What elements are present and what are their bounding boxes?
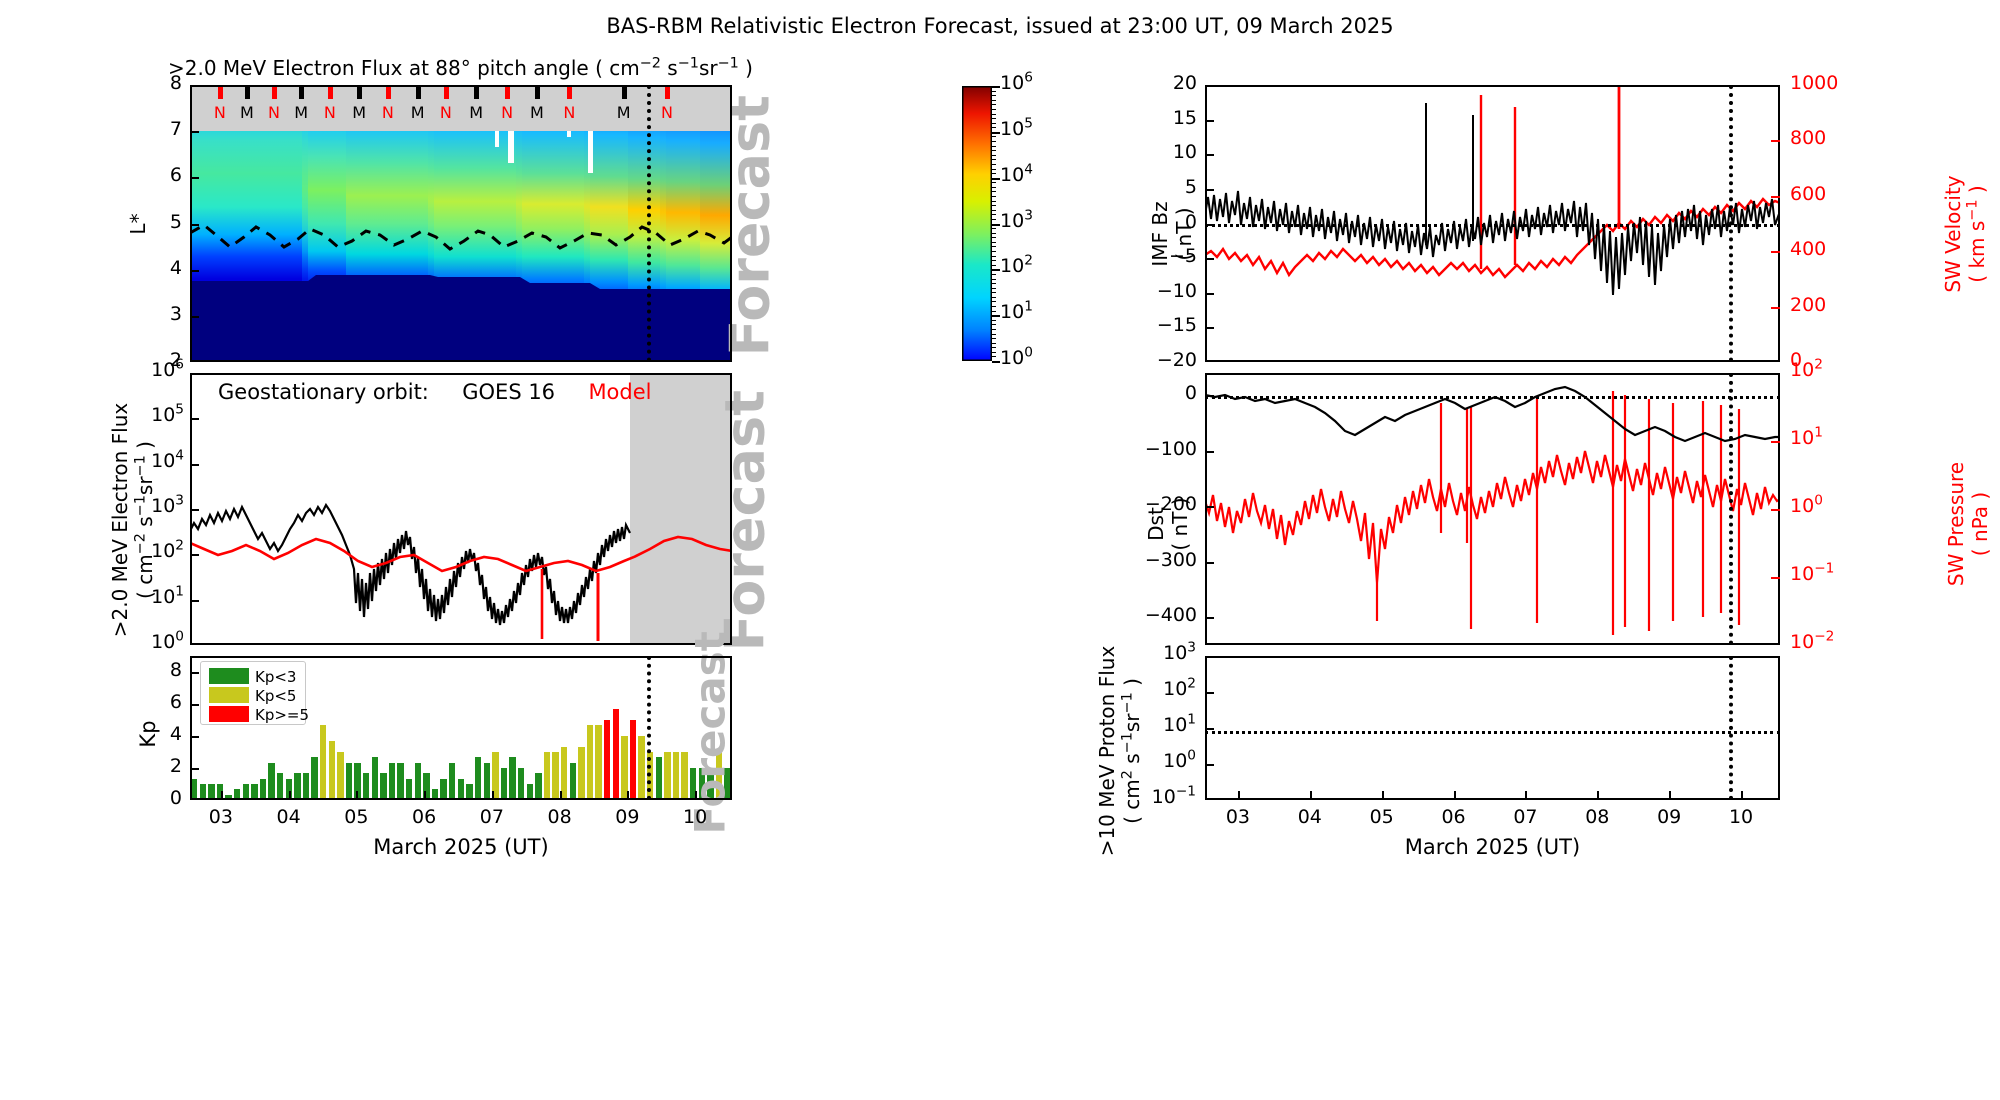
proton-xtick-mark [1525, 791, 1527, 800]
colorbar-minor-tick [992, 155, 996, 156]
proton-xtick: 08 [1580, 806, 1614, 828]
colorbar-minor-tick [992, 214, 996, 215]
colorbar-minor-tick [992, 104, 996, 105]
colorbar-minor-tick [992, 196, 996, 197]
colorbar-minor-tick [992, 141, 996, 142]
kp-ylabel: Kp [136, 704, 160, 764]
kp-ytick: 8 [158, 659, 182, 681]
colorbar-minor-tick [992, 164, 996, 165]
flux-lstar-ytick-mark [190, 224, 199, 226]
flux-lstar-ytick: 6 [160, 164, 182, 186]
colorbar-minor-tick [992, 132, 996, 133]
colorbar-minor-tick [992, 274, 996, 275]
colorbar-minor-tick [992, 86, 996, 87]
sw-pressure-ytick: 102 [1790, 359, 1823, 381]
imf-ytick: 15 [1135, 107, 1197, 129]
proton-xtick-mark [1238, 791, 1240, 800]
flux-lstar-panel-title: >2.0 MeV Electron Flux at 88° pitch angl… [168, 56, 753, 80]
sw-velocity-ytick-mark [1771, 251, 1780, 253]
sw-pressure-ytick-mark [1771, 441, 1780, 443]
colorbar-minor-tick [992, 219, 996, 220]
proton-axes-frame [1205, 656, 1780, 800]
geo-flux-ylabel: >2.0 MeV Electron Flux( cm−2 s−1sr−1 ) [108, 375, 158, 665]
sw-pressure-ytick: 10−1 [1790, 563, 1834, 585]
sw-velocity-ytick-mark [1771, 196, 1780, 198]
colorbar-minor-tick [992, 146, 996, 147]
page-title: BAS-RBM Relativistic Electron Forecast, … [0, 14, 2000, 38]
colorbar-minor-tick [992, 169, 996, 170]
colorbar-minor-tick [992, 297, 996, 298]
colorbar-minor-tick [992, 182, 996, 183]
proton-xtick-mark [1382, 791, 1384, 800]
kp-xtick-mark [289, 791, 291, 800]
proton-xtick: 06 [1437, 806, 1471, 828]
geo-ytick-mark [190, 418, 199, 420]
kp-legend-label: Kp<3 [255, 668, 296, 686]
kp-ytick-mark [190, 736, 199, 738]
dst-ytick: 0 [1125, 382, 1197, 404]
imf-ytick-mark [1205, 224, 1214, 226]
kp-ytick: 4 [158, 723, 182, 745]
kp-xtick-mark [424, 791, 426, 800]
kp-xtick-mark [560, 791, 562, 800]
flux-lstar-ytick: 3 [160, 303, 182, 325]
flux-lstar-ytick: 7 [160, 118, 182, 140]
colorbar-minor-tick [992, 114, 996, 115]
colorbar-minor-tick [992, 269, 996, 270]
colorbar-tick: 106 [1000, 72, 1033, 94]
colorbar-minor-tick [992, 233, 996, 234]
proton-xtick: 03 [1221, 806, 1255, 828]
flux-lstar-ytick-mark [190, 270, 199, 272]
sw-pressure-ytick-mark [1771, 577, 1780, 579]
colorbar-minor-tick [992, 91, 996, 92]
kp-xtick: 09 [610, 806, 644, 828]
colorbar-minor-tick [992, 210, 996, 211]
proton-xtick: 09 [1652, 806, 1686, 828]
flux-lstar-ytick: 4 [160, 257, 182, 279]
kp-xtick: 07 [475, 806, 509, 828]
imf-ylabel: IMF Bz( nT ) [1148, 134, 1196, 334]
sw-velocity-ylabel: SW Velocity( km s−1 ) [1941, 109, 1989, 359]
colorbar-tick: 104 [1000, 164, 1033, 186]
kp-xtick-mark [695, 791, 697, 800]
kp-xtick-mark [356, 791, 358, 800]
dst-ytick-mark [1205, 562, 1214, 564]
flux-lstar-axes-frame [190, 85, 732, 362]
geo-ytick-mark [190, 464, 199, 466]
geo-ytick-mark [190, 600, 199, 602]
colorbar-minor-tick [992, 324, 996, 325]
kp-xlabel: March 2025 (UT) [190, 835, 732, 859]
imf-ytick-mark [1205, 154, 1214, 156]
sw-velocity-ytick: 200 [1790, 294, 1826, 316]
kp-xtick: 05 [339, 806, 373, 828]
colorbar-tick: 100 [1000, 347, 1033, 369]
flux-lstar-ytick: 5 [160, 211, 182, 233]
geo-legend-model: Model [588, 380, 651, 404]
kp-ytick: 0 [158, 787, 182, 809]
colorbar-tick: 103 [1000, 210, 1033, 232]
sw-pressure-ytick: 100 [1790, 495, 1823, 517]
kp-xtick: 08 [543, 806, 577, 828]
sw-pressure-ytick: 101 [1790, 427, 1823, 449]
colorbar-minor-tick [992, 127, 996, 128]
kp-ytick: 2 [158, 755, 182, 777]
colorbar-minor-tick [992, 320, 996, 321]
colorbar-minor-tick [992, 347, 996, 348]
sw-pressure-ytick-mark [1771, 509, 1780, 511]
kp-legend-swatch [209, 706, 249, 722]
sw-velocity-ytick: 800 [1790, 127, 1826, 149]
colorbar-minor-tick [992, 279, 996, 280]
kp-legend: Kp<3Kp<5Kp>=5 [200, 661, 306, 725]
sw-velocity-ytick-mark [1771, 140, 1780, 142]
colorbar-minor-tick [992, 187, 996, 188]
colorbar-minor-tick [992, 95, 996, 96]
dst-ytick-mark [1205, 451, 1214, 453]
colorbar-minor-tick [992, 123, 996, 124]
proton-xtick: 05 [1365, 806, 1399, 828]
colorbar-minor-tick [992, 251, 996, 252]
colorbar-minor-tick [992, 178, 996, 179]
kp-ytick: 6 [158, 691, 182, 713]
colorbar-minor-tick [992, 191, 996, 192]
dst-axes-frame [1205, 373, 1780, 645]
colorbar-minor-tick [992, 173, 996, 174]
colorbar-minor-tick [992, 292, 996, 293]
colorbar-minor-tick [992, 136, 996, 137]
colorbar-minor-tick [992, 334, 996, 335]
colorbar-minor-tick [992, 201, 996, 202]
colorbar-minor-tick [992, 150, 996, 151]
imf-ytick-mark [1205, 293, 1214, 295]
imf-axes-frame [1205, 85, 1780, 362]
dst-ylabel: Dst( nT ) [1144, 424, 1192, 624]
proton-xtick: 10 [1724, 806, 1758, 828]
colorbar-tick: 102 [1000, 255, 1033, 277]
colorbar-minor-tick [992, 109, 996, 110]
colorbar-minor-tick [992, 301, 996, 302]
colorbar-minor-tick [992, 224, 996, 225]
kp-xtick: 06 [407, 806, 441, 828]
sw-velocity-ytick: 1000 [1790, 72, 1838, 94]
colorbar-minor-tick [992, 283, 996, 284]
colorbar-minor-tick [992, 338, 996, 339]
sw-velocity-ytick: 400 [1790, 238, 1826, 260]
proton-xtick: 04 [1293, 806, 1327, 828]
colorbar-minor-tick [992, 361, 996, 362]
geo-ytick-mark [190, 509, 199, 511]
imf-ytick-mark [1205, 189, 1214, 191]
kp-xtick: 03 [204, 806, 238, 828]
colorbar-minor-tick [992, 329, 996, 330]
colorbar-minor-tick [992, 246, 996, 247]
colorbar-tick: 105 [1000, 118, 1033, 140]
imf-ytick: −20 [1135, 349, 1197, 371]
geo-legend-goes: GOES 16 [462, 380, 555, 404]
colorbar-minor-tick [992, 159, 996, 160]
proton-xlabel: March 2025 (UT) [1205, 835, 1780, 859]
kp-xtick-mark [627, 791, 629, 800]
sw-pressure-ylabel: SW Pressure( nPa ) [1944, 394, 1992, 654]
proton-xtick-mark [1669, 791, 1671, 800]
colorbar-minor-tick [992, 118, 996, 119]
proton-ytick-mark [1205, 764, 1214, 766]
colorbar-minor-tick [992, 343, 996, 344]
dst-ytick-mark [1205, 617, 1214, 619]
kp-legend-swatch [209, 668, 249, 684]
colorbar-minor-tick [992, 260, 996, 261]
geo-legend: Geostationary orbit: GOES 16 Model [218, 380, 652, 404]
colorbar-minor-tick [992, 352, 996, 353]
flux-lstar-ytick: 8 [160, 72, 182, 94]
sw-pressure-ytick: 10−2 [1790, 631, 1834, 653]
flux-lstar-ytick-mark [190, 131, 199, 133]
kp-ytick-mark [190, 672, 199, 674]
proton-xtick-mark [1310, 791, 1312, 800]
colorbar-minor-tick [992, 237, 996, 238]
proton-ytick-mark [1205, 728, 1214, 730]
colorbar-minor-tick [992, 356, 996, 357]
imf-ytick-mark [1205, 327, 1214, 329]
kp-legend-label: Kp>=5 [255, 706, 309, 724]
flux-lstar-ylabel: L* [126, 194, 150, 254]
geo-legend-prefix: Geostationary orbit: [218, 380, 429, 404]
geo-flux-axes-frame [190, 373, 732, 645]
imf-ytick: 20 [1135, 72, 1197, 94]
colorbar-minor-tick [992, 306, 996, 307]
colorbar-minor-tick [992, 205, 996, 206]
proton-ylabel: >10 MeV Proton Flux( cm2 s−1sr−1 ) [1095, 606, 1145, 896]
colorbar-minor-tick [992, 311, 996, 312]
kp-xtick-mark [221, 791, 223, 800]
proton-xtick: 07 [1508, 806, 1542, 828]
kp-ytick-mark [190, 768, 199, 770]
sw-velocity-ytick: 600 [1790, 183, 1826, 205]
flux-colorbar [962, 86, 992, 361]
colorbar-minor-tick [992, 315, 996, 316]
colorbar-minor-tick [992, 228, 996, 229]
imf-ytick-mark [1205, 120, 1214, 122]
colorbar-minor-tick [992, 265, 996, 266]
dst-ytick-mark [1205, 395, 1214, 397]
kp-xtick: 04 [272, 806, 306, 828]
colorbar-tick: 101 [1000, 301, 1033, 323]
imf-ytick-mark [1205, 258, 1214, 260]
flux-lstar-ytick-mark [190, 316, 199, 318]
colorbar-minor-tick [992, 100, 996, 101]
kp-ytick-mark [190, 704, 199, 706]
geo-ytick-mark [190, 554, 199, 556]
colorbar-minor-tick [992, 242, 996, 243]
proton-xtick-mark [1454, 791, 1456, 800]
kp-xtick-mark [492, 791, 494, 800]
proton-xtick-mark [1597, 791, 1599, 800]
sw-velocity-ytick-mark [1771, 307, 1780, 309]
colorbar-minor-tick [992, 288, 996, 289]
dst-ytick-mark [1205, 506, 1214, 508]
proton-ytick-mark [1205, 692, 1214, 694]
flux-lstar-ytick-mark [190, 177, 199, 179]
proton-xtick-mark [1741, 791, 1743, 800]
kp-xtick: 10 [678, 806, 712, 828]
colorbar-minor-tick [992, 256, 996, 257]
kp-legend-label: Kp<5 [255, 687, 296, 705]
kp-legend-swatch [209, 687, 249, 703]
